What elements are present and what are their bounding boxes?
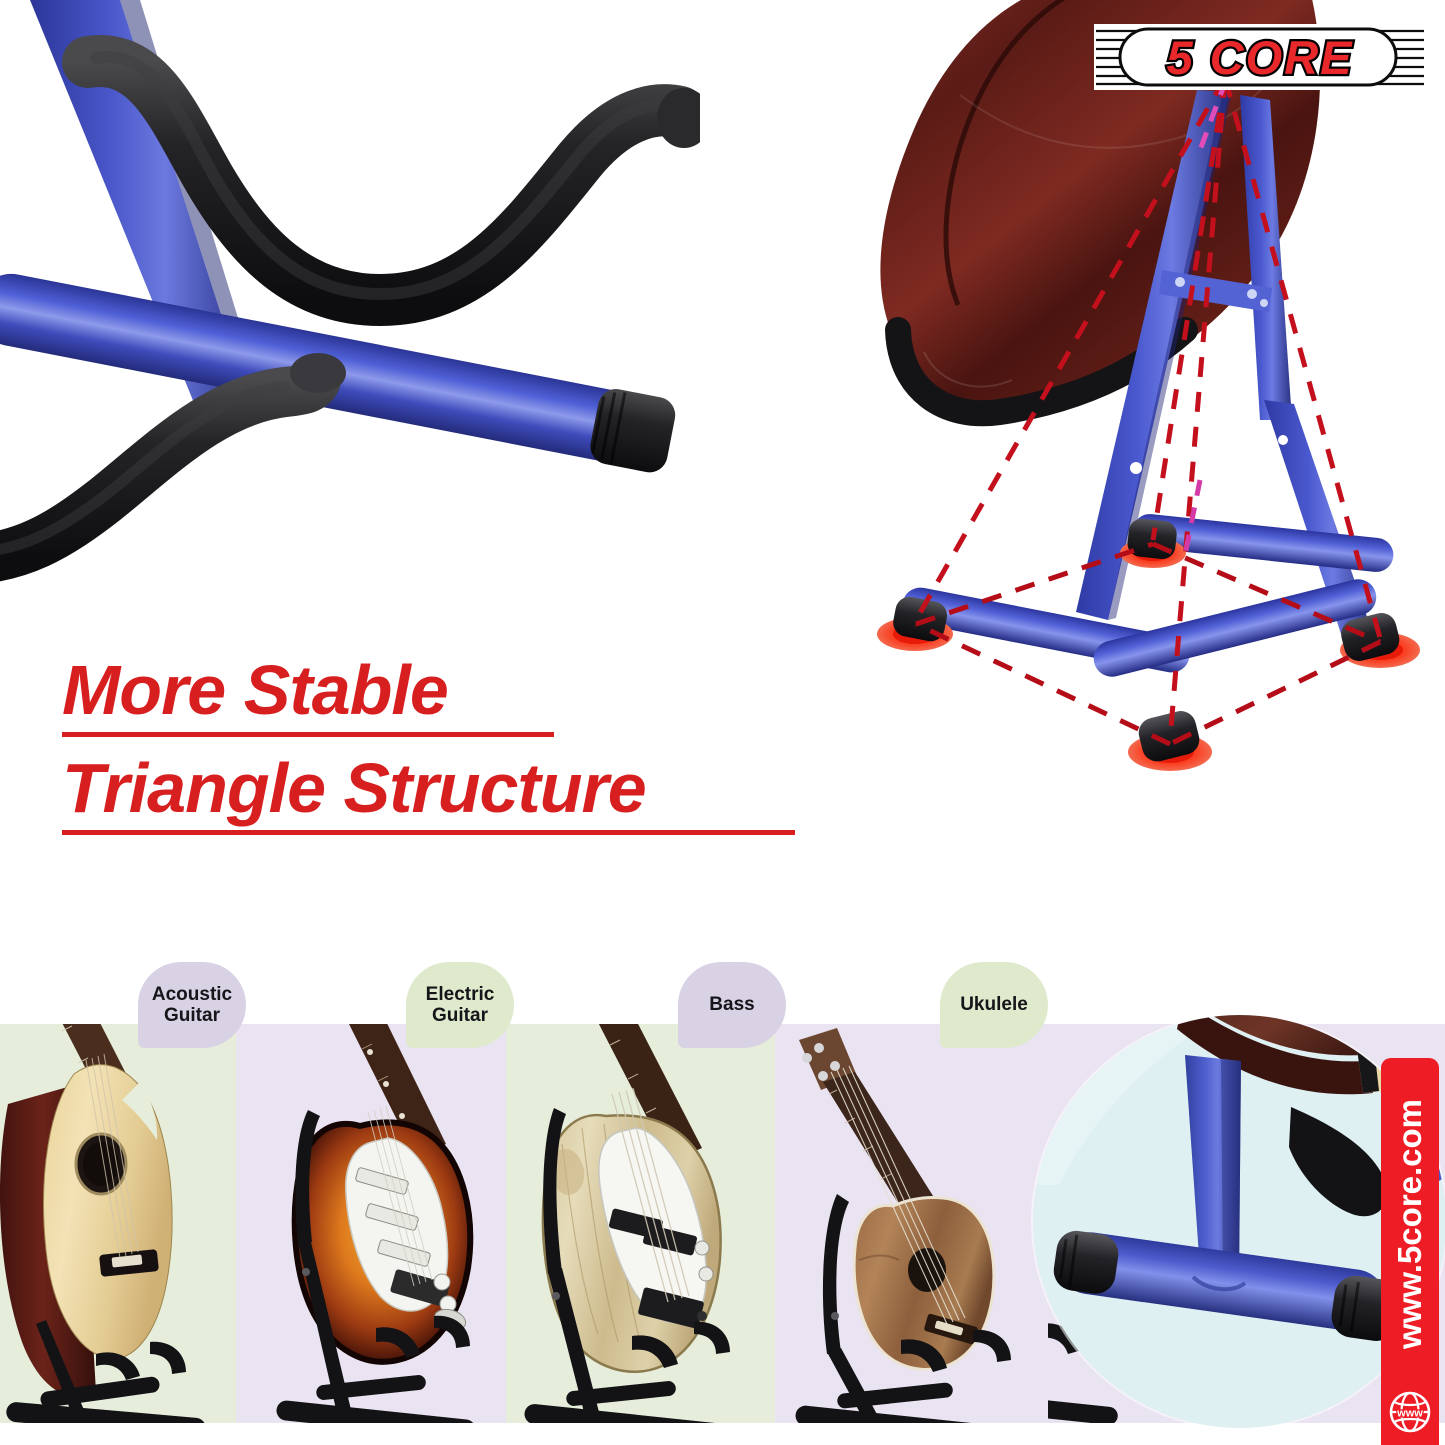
stand-arms-closeup-photo <box>0 0 780 620</box>
website-banner[interactable]: www.5core.com www www <box>1381 1058 1439 1445</box>
headline-block: More Stable Triangle Structure <box>62 655 862 851</box>
pill-label-line1: Bass <box>709 994 754 1015</box>
label-pill-ukulele: Ukulele <box>940 962 1048 1048</box>
label-pill-acoustic-guitar: Acoustic Guitar <box>138 962 246 1048</box>
brand-logo-text: 5 CORE <box>1167 31 1354 84</box>
svg-text:www: www <box>1396 1408 1423 1420</box>
pill-label-line1: Acoustic <box>152 984 232 1005</box>
globe-www-icon: www www <box>1387 1389 1433 1435</box>
pill-label-line1: Ukulele <box>960 994 1028 1015</box>
headline-underline-1 <box>62 732 554 737</box>
website-url-text: www.5core.com <box>1391 1058 1429 1389</box>
label-pill-electric-guitar: Electric Guitar <box>406 962 514 1048</box>
headline-underline-2 <box>62 830 795 835</box>
pill-label-line2: Guitar <box>432 1005 488 1026</box>
panel-acoustic-guitar <box>0 1024 236 1445</box>
panel-electric-guitar <box>236 1024 506 1445</box>
pill-label-line2: Guitar <box>164 1005 220 1026</box>
pill-label-line1: Electric <box>426 984 495 1005</box>
panel-bass-guitar <box>506 1024 775 1445</box>
label-pill-bass: Bass <box>678 962 786 1048</box>
panel-ukulele <box>775 1024 1048 1445</box>
brand-logo-5core: 5 CORE <box>1094 22 1426 92</box>
headline-line-1: More Stable <box>62 655 862 725</box>
product-marketing-image: 5 CORE More Stable Triangle Structure <box>0 0 1445 1445</box>
headline-line-2: Triangle Structure <box>62 753 862 823</box>
triangle-structure-diagram-photo <box>840 0 1445 830</box>
